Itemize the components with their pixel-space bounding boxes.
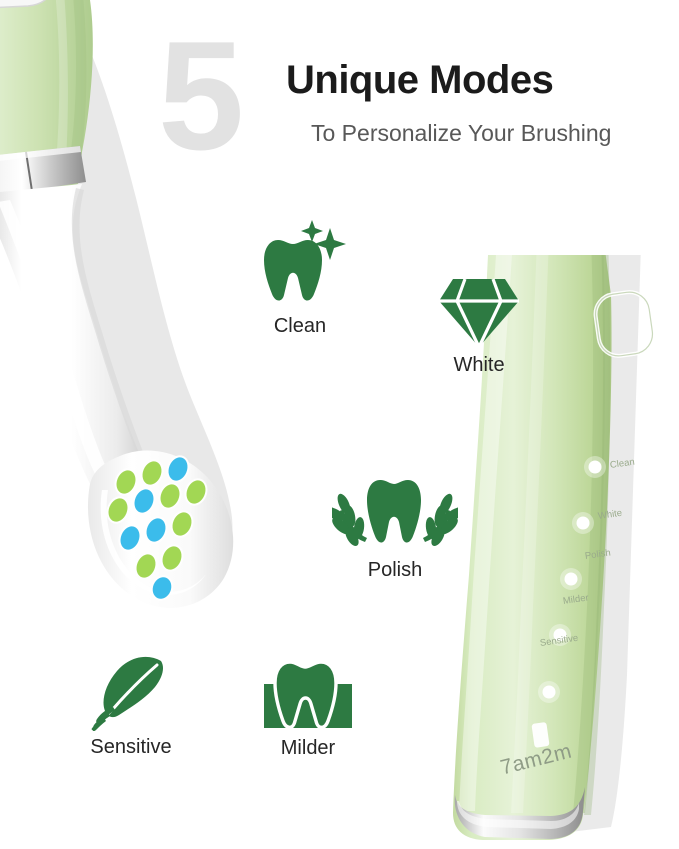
mode-label-white: White <box>420 354 538 377</box>
mode-item-clean: Clean <box>240 218 360 338</box>
page-title: Unique Modes <box>286 58 553 103</box>
mode-item-white: White <box>420 275 538 377</box>
mode-label-milder: Milder <box>248 737 368 760</box>
infographic-canvas: 7am2m Clean White Polish Milder Sensitiv… <box>0 0 679 849</box>
mode-item-milder: Milder <box>248 660 368 760</box>
mode-label-sensitive: Sensitive <box>72 736 190 759</box>
big-number-5: 5 <box>158 18 240 173</box>
feather-icon <box>91 655 171 731</box>
page-subtitle: To Personalize Your Brushing <box>311 120 611 147</box>
mode-label-polish: Polish <box>325 559 465 582</box>
tooth-laurel-icon <box>332 480 458 554</box>
diamond-icon <box>439 275 519 349</box>
mode-item-polish: Polish <box>325 480 465 582</box>
mode-label-clean: Clean <box>240 315 360 338</box>
tooth-sparkle-icon <box>254 218 346 310</box>
tooth-gum-icon <box>262 660 354 732</box>
mode-item-sensitive: Sensitive <box>72 655 190 759</box>
